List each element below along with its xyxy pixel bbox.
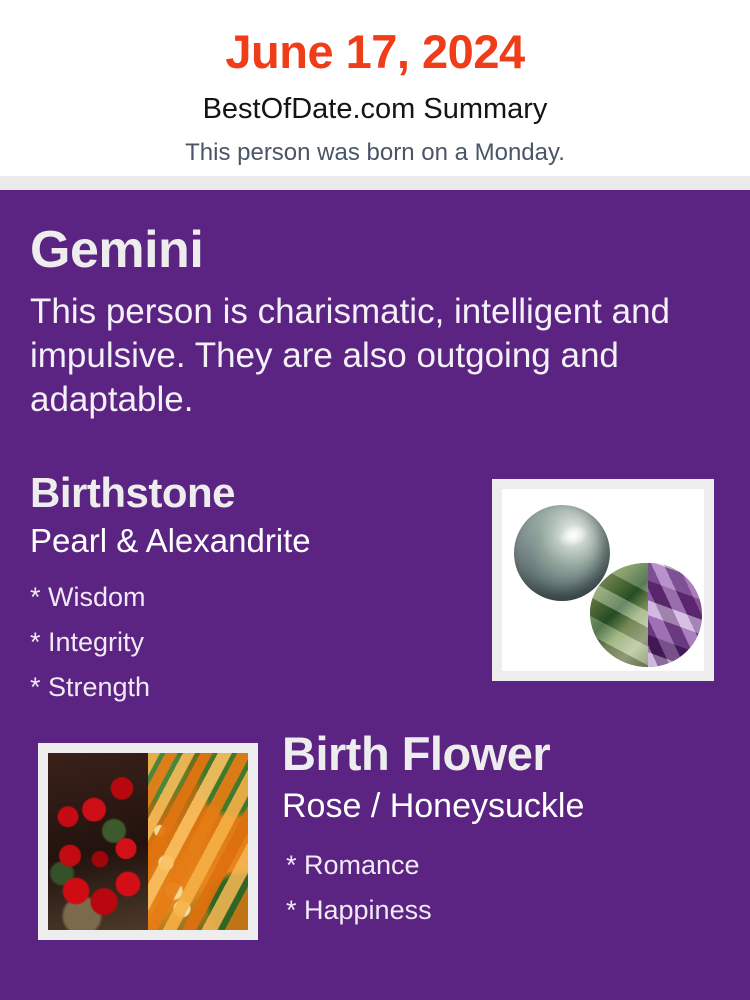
birth-flower-section: Birth Flower Rose / Honeysuckle * Romanc… [282,730,722,933]
born-weekday-text: This person was born on a Monday. [0,124,750,165]
zodiac-description: This person is charismatic, intelligent … [30,290,702,422]
summary-card: June 17, 2024 BestOfDate.com Summary Thi… [0,0,750,1000]
alexandrite-faceted-half [648,563,702,667]
list-item: * Integrity [30,620,470,665]
card-header: June 17, 2024 BestOfDate.com Summary Thi… [0,0,750,176]
header-divider [0,176,750,190]
honeysuckle-graphic [148,753,248,930]
birthstone-trait-list: * Wisdom * Integrity * Strength [30,557,470,710]
list-item: * Romance [286,843,722,888]
roses-graphic [48,753,148,930]
page-title: June 17, 2024 [0,0,750,75]
alexandrite-rough-half [590,563,648,667]
birthstone-section: Birthstone Pearl & Alexandrite * Wisdom … [30,472,470,710]
site-subtitle: BestOfDate.com Summary [0,75,750,124]
birth-flower-image-inner [48,753,248,930]
birthstone-names: Pearl & Alexandrite [30,514,470,557]
list-item: * Strength [30,665,470,710]
alexandrite-graphic [590,563,702,667]
birth-flower-heading: Birth Flower [282,730,722,777]
birthstone-heading: Birthstone [30,472,470,514]
zodiac-sign-title: Gemini [30,224,203,276]
details-panel: Gemini This person is charismatic, intel… [0,190,750,1000]
birth-flower-names: Rose / Honeysuckle [282,777,722,823]
birth-flower-trait-list: * Romance * Happiness [282,823,722,933]
list-item: * Happiness [286,888,722,933]
birthstone-image-inner [502,489,704,671]
list-item: * Wisdom [30,575,470,620]
birth-flower-image [38,743,258,940]
birthstone-image [492,479,714,681]
